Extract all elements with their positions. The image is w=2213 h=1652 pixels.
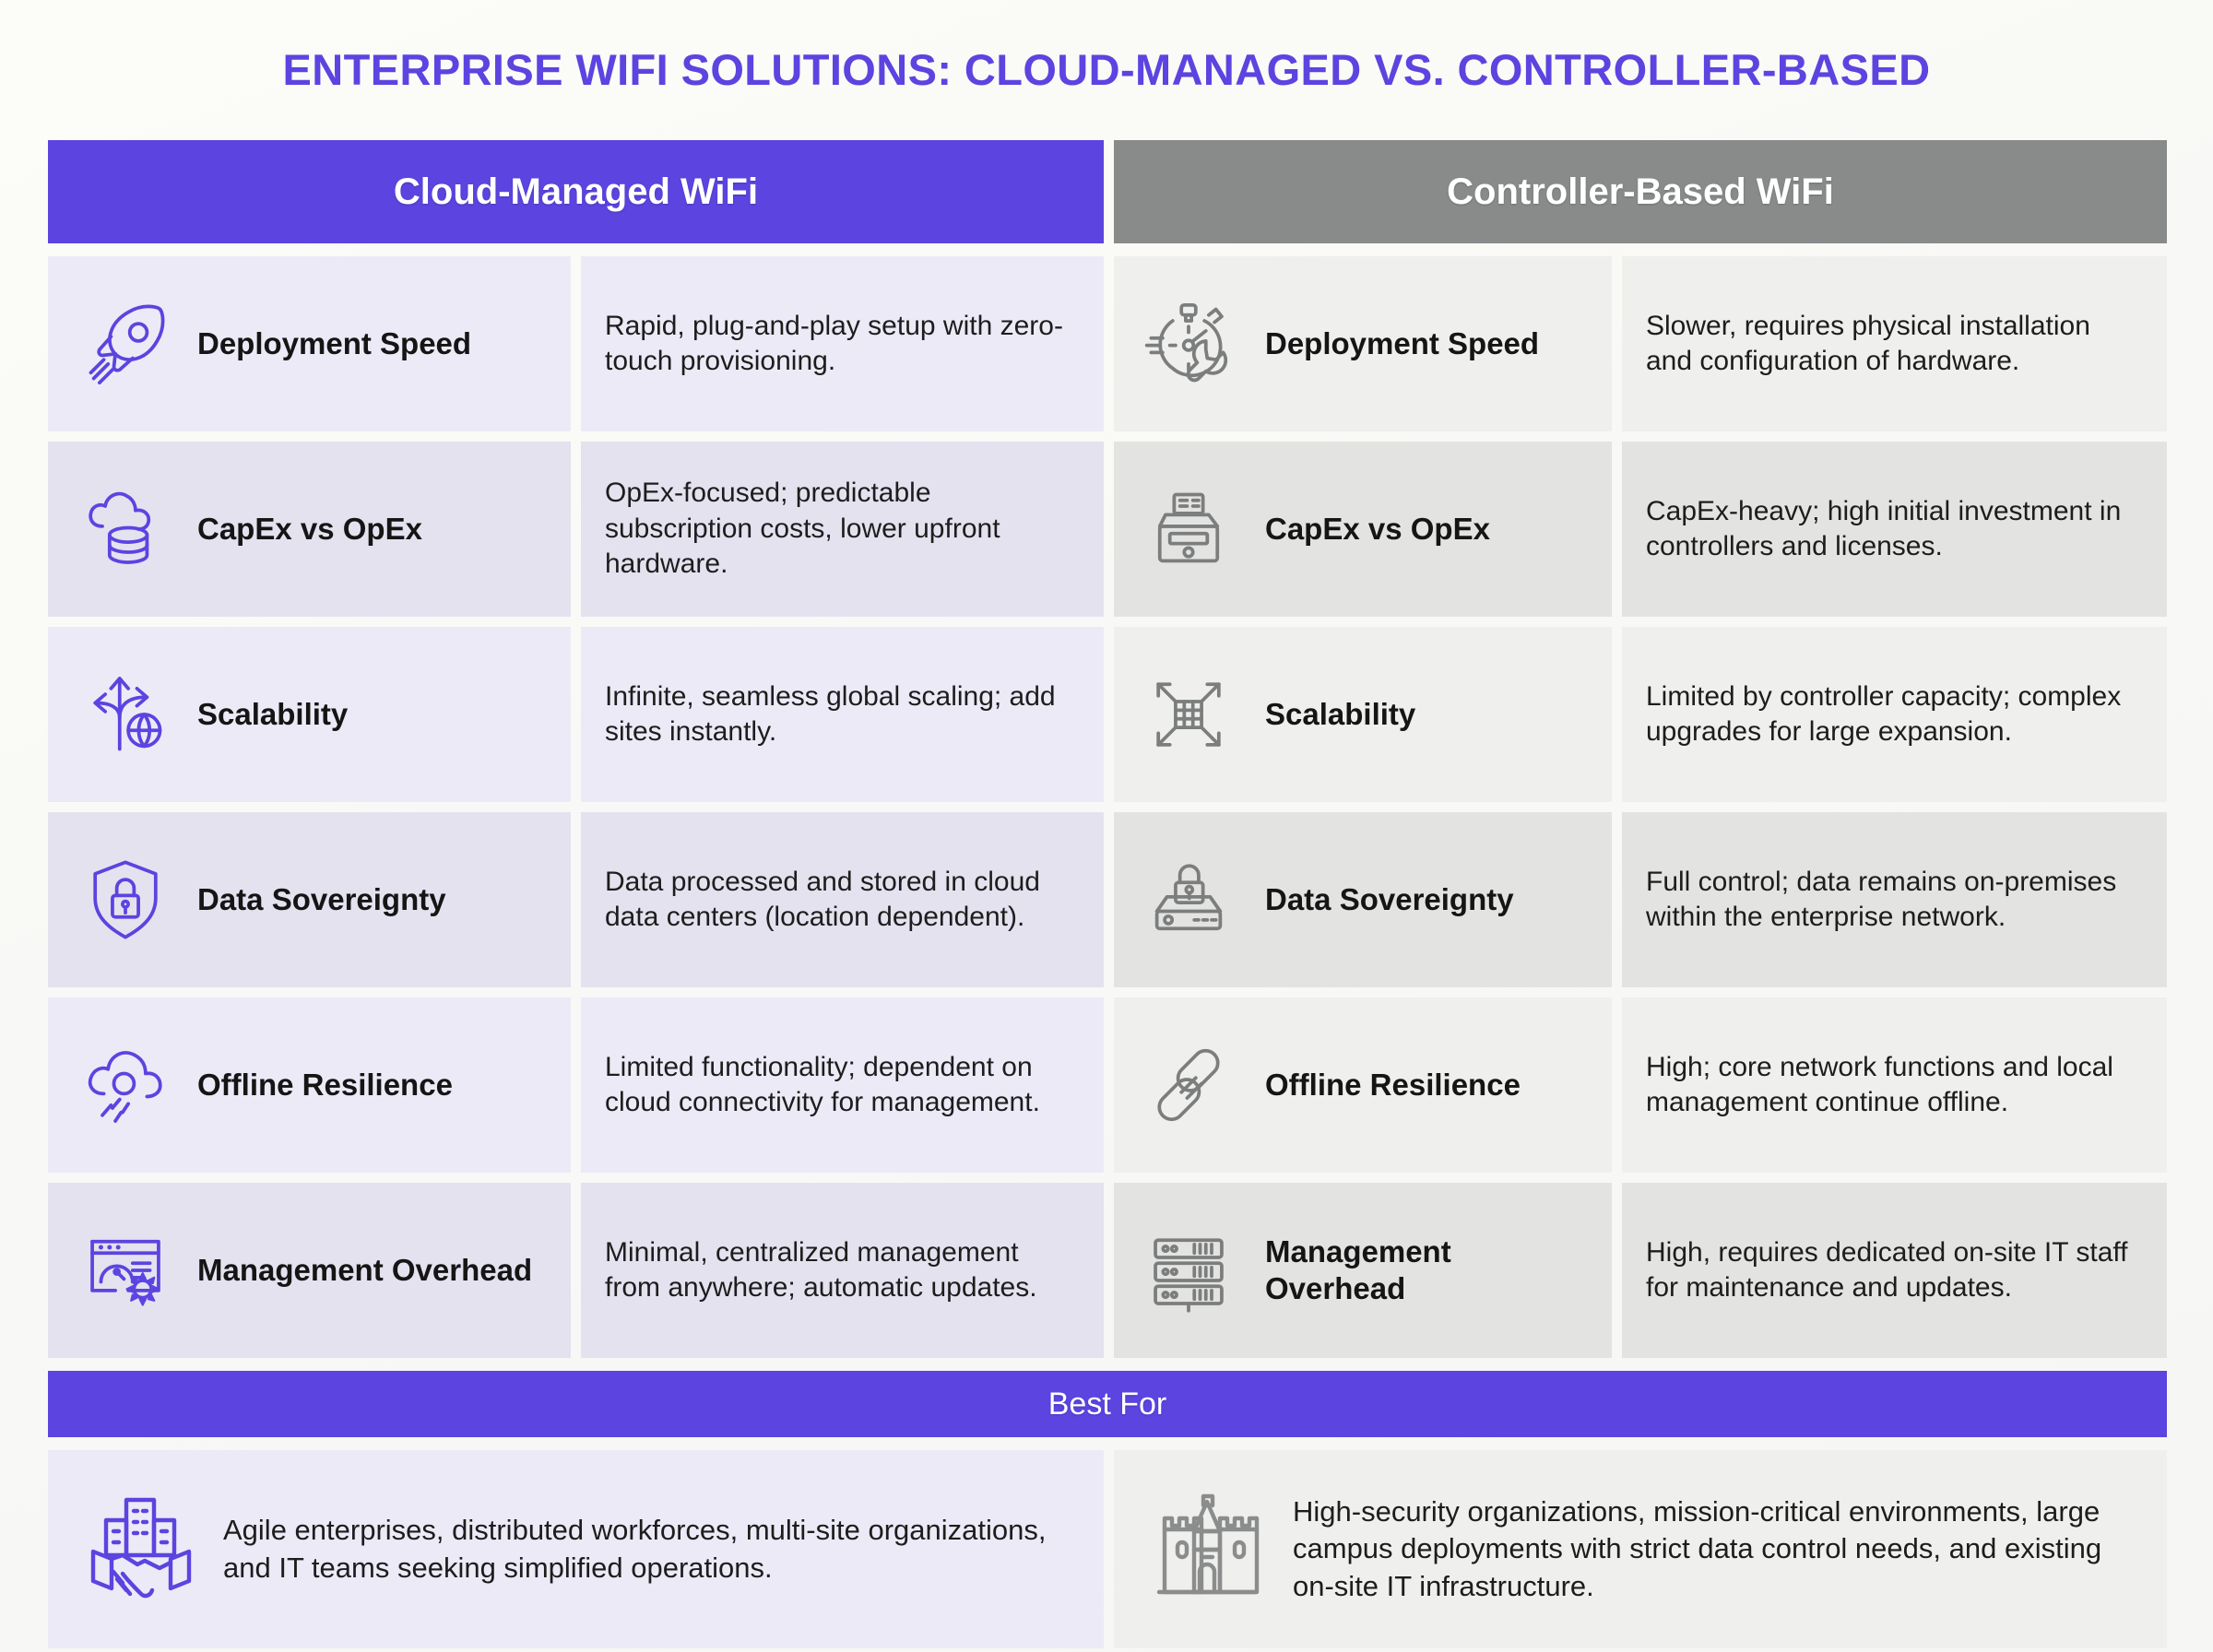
infographic-canvas: Enterprise WiFi Solutions: Cloud-Managed… bbox=[0, 0, 2213, 1652]
stopwatch-wrench-icon bbox=[1134, 293, 1243, 395]
feature-cell: Management Overhead bbox=[1114, 1183, 1612, 1358]
detail-cell: Full control; data remains on-premises w… bbox=[1622, 812, 2167, 987]
table-row: Offline Resilience Limited functionality… bbox=[48, 997, 1104, 1173]
feature-cell: Offline Resilience bbox=[1114, 997, 1612, 1173]
feature-label: Data Sovereignty bbox=[1265, 881, 1514, 918]
detail-cell: Data processed and stored in cloud data … bbox=[581, 812, 1104, 987]
detail-cell: Minimal, centralized management from any… bbox=[581, 1183, 1104, 1358]
feature-label: Management Overhead bbox=[1265, 1233, 1592, 1308]
detail-cell: High; core network functions and local m… bbox=[1622, 997, 2167, 1173]
best-for-row: Agile enterprises, distributed workforce… bbox=[48, 1450, 2167, 1648]
table-row: CapEx vs OpEx CapEx-heavy; high initial … bbox=[1114, 442, 2167, 617]
detail-text: Data processed and stored in cloud data … bbox=[605, 865, 1080, 936]
feature-label: Scalability bbox=[1265, 696, 1415, 733]
detail-cell: CapEx-heavy; high initial investment in … bbox=[1622, 442, 2167, 617]
best-for-cell-controller-based: High-security organizations, mission-cri… bbox=[1114, 1450, 2167, 1648]
detail-text: Minimal, centralized management from any… bbox=[605, 1235, 1080, 1306]
column-header-row: Cloud-Managed WiFi Controller-Based WiFi bbox=[48, 140, 2167, 243]
feature-cell: Scalability bbox=[1114, 627, 1612, 802]
table-row: Scalability Infinite, seamless global sc… bbox=[48, 627, 1104, 802]
feature-label: Offline Resilience bbox=[1265, 1067, 1521, 1103]
buildings-handshake-icon bbox=[72, 1476, 210, 1623]
feature-cell: Deployment Speed bbox=[1114, 256, 1612, 431]
server-rack-icon bbox=[1134, 1220, 1243, 1321]
cash-register-icon bbox=[1134, 478, 1243, 580]
detail-cell: Slower, requires physical installation a… bbox=[1622, 256, 2167, 431]
castle-icon bbox=[1138, 1476, 1276, 1623]
arrows-globe-icon bbox=[70, 664, 181, 765]
table-row: Data Sovereignty Data processed and stor… bbox=[48, 812, 1104, 987]
detail-text: Rapid, plug-and-play setup with zero-tou… bbox=[605, 309, 1080, 380]
expand-grid-icon bbox=[1134, 664, 1243, 765]
server-lock-icon bbox=[1134, 849, 1243, 950]
chain-link-icon bbox=[1134, 1034, 1243, 1136]
feature-label: Offline Resilience bbox=[197, 1067, 453, 1103]
detail-text: Limited by controller capacity; complex … bbox=[1646, 679, 2143, 750]
table-row: Management Overhead Minimal, centralized… bbox=[48, 1183, 1104, 1358]
shield-lock-icon bbox=[70, 849, 181, 950]
table-row: CapEx vs OpEx OpEx-focused; predictable … bbox=[48, 442, 1104, 617]
detail-text: OpEx-focused; predictable subscription c… bbox=[605, 476, 1080, 582]
rocket-icon bbox=[70, 293, 181, 395]
feature-cell: Data Sovereignty bbox=[48, 812, 571, 987]
feature-cell: Data Sovereignty bbox=[1114, 812, 1612, 987]
feature-label: Management Overhead bbox=[197, 1252, 532, 1289]
detail-cell: Rapid, plug-and-play setup with zero-tou… bbox=[581, 256, 1104, 431]
best-for-bar: Best For bbox=[48, 1371, 2167, 1437]
feature-cell: Deployment Speed bbox=[48, 256, 571, 431]
panel-cloud-managed: Deployment Speed Rapid, plug-and-play se… bbox=[48, 256, 1104, 1368]
feature-label: Data Sovereignty bbox=[197, 881, 446, 918]
cloud-broken-link-icon bbox=[70, 1034, 181, 1136]
detail-text: Full control; data remains on-premises w… bbox=[1646, 865, 2143, 936]
detail-cell: OpEx-focused; predictable subscription c… bbox=[581, 442, 1104, 617]
feature-label: Deployment Speed bbox=[1265, 325, 1539, 362]
table-row: Data Sovereignty Full control; data rema… bbox=[1114, 812, 2167, 987]
feature-cell: CapEx vs OpEx bbox=[1114, 442, 1612, 617]
feature-label: Deployment Speed bbox=[197, 325, 471, 362]
cloud-coins-icon bbox=[70, 478, 181, 580]
column-header-controller-based: Controller-Based WiFi bbox=[1114, 140, 2167, 243]
table-row: Deployment Speed Rapid, plug-and-play se… bbox=[48, 256, 1104, 431]
panel-controller-based: Deployment Speed Slower, requires physic… bbox=[1114, 256, 2167, 1368]
detail-text: High, requires dedicated on-site IT staf… bbox=[1646, 1235, 2143, 1306]
detail-text: High; core network functions and local m… bbox=[1646, 1050, 2143, 1121]
feature-label: Scalability bbox=[197, 696, 348, 733]
best-for-text: Agile enterprises, distributed workforce… bbox=[223, 1512, 1080, 1587]
detail-text: Infinite, seamless global scaling; add s… bbox=[605, 679, 1080, 750]
page-title: Enterprise WiFi Solutions: Cloud-Managed… bbox=[0, 44, 2213, 95]
detail-cell: Infinite, seamless global scaling; add s… bbox=[581, 627, 1104, 802]
detail-text: Slower, requires physical installation a… bbox=[1646, 309, 2143, 380]
column-header-cloud-managed: Cloud-Managed WiFi bbox=[48, 140, 1104, 243]
feature-cell: CapEx vs OpEx bbox=[48, 442, 571, 617]
best-for-text: High-security organizations, mission-cri… bbox=[1293, 1493, 2143, 1605]
table-row: Management Overhead High, requires dedic… bbox=[1114, 1183, 2167, 1358]
detail-text: CapEx-heavy; high initial investment in … bbox=[1646, 494, 2143, 565]
detail-cell: High, requires dedicated on-site IT staf… bbox=[1622, 1183, 2167, 1358]
feature-cell: Management Overhead bbox=[48, 1183, 571, 1358]
best-for-cell-cloud-managed: Agile enterprises, distributed workforce… bbox=[48, 1450, 1104, 1648]
feature-label: CapEx vs OpEx bbox=[197, 511, 422, 548]
feature-label: CapEx vs OpEx bbox=[1265, 511, 1490, 548]
feature-cell: Scalability bbox=[48, 627, 571, 802]
comparison-grid: Cloud-Managed WiFi Controller-Based WiFi bbox=[48, 140, 2167, 1648]
detail-cell: Limited by controller capacity; complex … bbox=[1622, 627, 2167, 802]
detail-text: Limited functionality; dependent on clou… bbox=[605, 1050, 1080, 1121]
feature-cell: Offline Resilience bbox=[48, 997, 571, 1173]
comparison-panels: Deployment Speed Rapid, plug-and-play se… bbox=[48, 256, 2167, 1368]
table-row: Offline Resilience High; core network fu… bbox=[1114, 997, 2167, 1173]
detail-cell: Limited functionality; dependent on clou… bbox=[581, 997, 1104, 1173]
table-row: Scalability Limited by controller capaci… bbox=[1114, 627, 2167, 802]
table-row: Deployment Speed Slower, requires physic… bbox=[1114, 256, 2167, 431]
dashboard-gear-icon bbox=[70, 1220, 181, 1321]
